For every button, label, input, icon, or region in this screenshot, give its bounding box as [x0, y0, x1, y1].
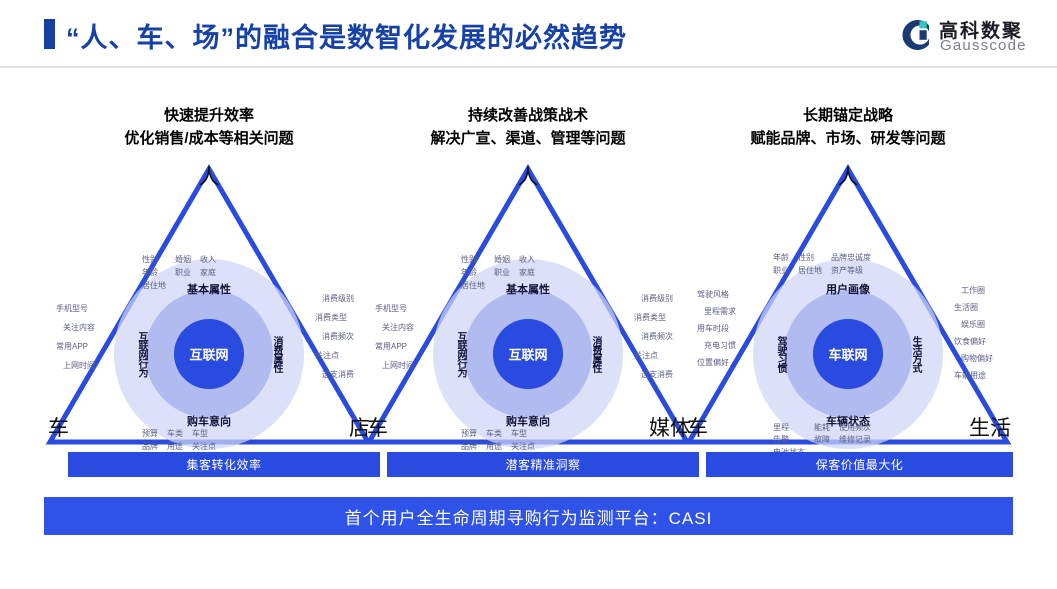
tag: 年龄: [773, 253, 789, 264]
triangle-3-right-label: 生活: [969, 412, 1011, 442]
column-heading-1: 快速提升效率 优化销售/成本等相关问题: [44, 104, 374, 151]
outcome-bar-3: 保客价值最大化: [706, 452, 1013, 477]
tag: 车型: [511, 429, 535, 440]
tag: 婚姻: [175, 255, 191, 266]
triangle-3-left-tags: 驾驶风格 里程需求 用车时段 充电习惯 位置偏好: [697, 289, 736, 368]
triangle-1-bottom-tags: 预算 车类 车型 品牌 用途 关注点: [142, 429, 216, 453]
page-header: “人、车、场”的融合是数智化发展的必然趋势 高科数聚 Gausscode: [0, 0, 1057, 68]
column-heading-3-line2: 赋能品牌、市场、研发等问题: [683, 127, 1013, 150]
triangle-1-right-tags: 消费级别 消费类型 消费频次 关注点 透支消费: [322, 293, 354, 380]
page-title: “人、车、场”的融合是数智化发展的必然趋势: [66, 16, 627, 55]
tag: 消费频次: [322, 331, 354, 342]
tag: 关注内容: [63, 322, 95, 333]
triangle-3-core-label: 车联网: [828, 345, 867, 364]
triangle-2-top-tags: 性别 婚姻 收入 年龄 职业 家庭 居住地: [461, 255, 535, 291]
column-heading-1-line1: 快速提升效率: [44, 104, 374, 127]
tag: 车类: [167, 429, 183, 440]
tag: 车辆用途: [954, 370, 986, 381]
outcome-bar-1: 集客转化效率: [68, 452, 380, 477]
triangle-2-rings: 互联网 基本属性 购车意向 互联网行为 消费属性 性别 婚姻 收入 年龄 职业 …: [433, 259, 623, 449]
triangle-1-left-tags: 手机型号 关注内容 常用APP 上网时间: [56, 303, 95, 371]
tag: 透支消费: [641, 369, 673, 380]
triangle-2-apex-label: 人: [518, 161, 539, 191]
column-heading-1-line2: 优化销售/成本等相关问题: [44, 127, 374, 150]
triangle-3-left-label: 车: [687, 412, 708, 442]
triangle-3-ring-right-label: 生活方式: [908, 336, 923, 372]
tag: 驾驶风格: [697, 289, 736, 300]
tag: 位置偏好: [697, 357, 736, 368]
column-heading-3: 长期锚定战略 赋能品牌、市场、研发等问题: [683, 104, 1013, 151]
column-heading-3-line1: 长期锚定战略: [683, 104, 1013, 127]
tag: 职业: [175, 268, 191, 279]
tag: 上网时间: [382, 360, 414, 371]
triangle-2-core-label: 互联网: [508, 345, 547, 364]
title-accent-mark: [44, 19, 55, 49]
tag: 手机型号: [375, 303, 414, 314]
triangle-panel-2: 人 车 媒体 互联网 基本属性 购车意向 互联网行为 消费属性 性别 婚姻 收入…: [363, 163, 693, 448]
tag: 消费频次: [641, 331, 673, 342]
tag: 收入: [519, 255, 535, 266]
triangle-2-left-tags: 手机型号 关注内容 常用APP 上网时间: [375, 303, 414, 371]
triangle-1-ring-left-label: 互联网行为: [134, 332, 149, 377]
tag: 生活圈: [954, 302, 978, 313]
tag: 关注点: [315, 350, 339, 361]
outcome-bar-2: 潜客精准洞察: [387, 452, 699, 477]
tag: 使用频次: [839, 423, 871, 434]
triangle-2-ring-bottom-label: 购车意向: [506, 413, 550, 429]
tag: 告警: [773, 435, 805, 446]
tag: 消费类型: [315, 312, 347, 323]
tag: 职业: [773, 266, 789, 277]
triangle-2-bottom-tags: 预算 车类 车型 品牌 用途 关注点: [461, 429, 535, 453]
tag: 透支消费: [322, 369, 354, 380]
tag: 饮食偏好: [954, 336, 986, 347]
triangle-3-apex-label: 人: [838, 161, 859, 191]
triangle-panel-1: 人 车 店 互联网 基本属性 购车意向 互联网行为 消费属性 性别 婚姻 收入 …: [44, 163, 374, 448]
tag: 里程: [773, 423, 805, 434]
tag: 用车时段: [697, 323, 736, 334]
tag: 里程需求: [704, 306, 736, 317]
tag: 车类: [486, 429, 502, 440]
triangle-3-rings: 车联网 用户画像 车辆状态 驾驶习惯 生活方式 年龄 性别 品牌忠诚度 职业 居…: [753, 259, 943, 449]
brand-logo: 高科数聚 Gausscode: [899, 14, 1039, 58]
tag: 年龄: [142, 268, 166, 279]
tag: 职业: [494, 268, 510, 279]
column-heading-2-line2: 解决广宣、渠道、管理等问题: [363, 127, 693, 150]
gausscode-logo-icon: [899, 18, 933, 52]
triangle-3-ring-left-label: 驾驶习惯: [773, 336, 788, 372]
tag: 购物偏好: [961, 353, 993, 364]
triangle-3-ring-top-label: 用户画像: [826, 281, 870, 297]
triangle-2-ring-right-label: 消费属性: [588, 336, 603, 372]
triangle-1-top-tags: 性别 婚姻 收入 年龄 职业 家庭 居住地: [142, 255, 216, 291]
tag: 性别: [142, 255, 166, 266]
triangle-3-top-tags: 年龄 性别 品牌忠诚度 职业 居住地 资产等级: [773, 253, 871, 277]
tag: 能耗: [814, 423, 830, 434]
tag: 居住地: [461, 281, 485, 292]
platform-banner: 首个用户全生命周期寻购行为监测平台：CASI: [44, 497, 1013, 535]
tag: 维修记录: [839, 435, 871, 446]
tag: 居住地: [142, 281, 166, 292]
triangle-1-core-label: 互联网: [189, 345, 228, 364]
tag: 年龄: [461, 268, 485, 279]
tag: 消费类型: [634, 312, 666, 323]
triangle-2-right-tags: 消费级别 消费类型 消费频次 关注点 透支消费: [641, 293, 673, 380]
triangle-1-ring-right-label: 消费属性: [269, 336, 284, 372]
tag: 上网时间: [63, 360, 95, 371]
tag: 娱乐圈: [961, 319, 985, 330]
tag: 消费级别: [641, 293, 673, 304]
tag: 家庭: [200, 268, 216, 279]
tag: 充电习惯: [704, 340, 736, 351]
tag: 收入: [200, 255, 216, 266]
tag: 常用APP: [375, 341, 414, 352]
tag: 居住地: [798, 266, 822, 277]
triangle-1-apex-label: 人: [199, 161, 220, 191]
tag: 关注点: [634, 350, 658, 361]
tag: 工作圈: [961, 285, 985, 296]
triangle-2-ring-left-label: 互联网行为: [453, 332, 468, 377]
tag: 关注内容: [382, 322, 414, 333]
triangle-3-right-tags: 工作圈 生活圈 娱乐圈 饮食偏好 购物偏好 车辆用途: [961, 285, 993, 381]
tag: 预算: [142, 429, 158, 440]
tag: 家庭: [519, 268, 535, 279]
triangle-panel-3: 人 车 生活 车联网 用户画像 车辆状态 驾驶习惯 生活方式 年龄 性别 品牌忠…: [683, 163, 1013, 448]
tag: 资产等级: [831, 266, 871, 277]
header-divider: [0, 66, 1057, 68]
triangle-1-rings: 互联网 基本属性 购车意向 互联网行为 消费属性 性别 婚姻 收入 年龄 职业 …: [114, 259, 304, 449]
tag: 性别: [461, 255, 485, 266]
triangle-2-left-label: 车: [367, 412, 388, 442]
triangle-1-left-label: 车: [48, 412, 69, 442]
tag: 性别: [798, 253, 822, 264]
tag: 故障: [814, 435, 830, 446]
tag: 常用APP: [56, 341, 95, 352]
tag: 手机型号: [56, 303, 95, 314]
tag: 消费级别: [322, 293, 354, 304]
tag: 婚姻: [494, 255, 510, 266]
column-heading-2-line1: 持续改善战策战术: [363, 104, 693, 127]
tag: 车型: [192, 429, 216, 440]
tag: 品牌忠诚度: [831, 253, 871, 264]
logo-text-en: Gausscode: [940, 37, 1027, 54]
triangle-1-ring-bottom-label: 购车意向: [187, 413, 231, 429]
tag: 预算: [461, 429, 477, 440]
column-heading-2: 持续改善战策战术 解决广宣、渠道、管理等问题: [363, 104, 693, 151]
